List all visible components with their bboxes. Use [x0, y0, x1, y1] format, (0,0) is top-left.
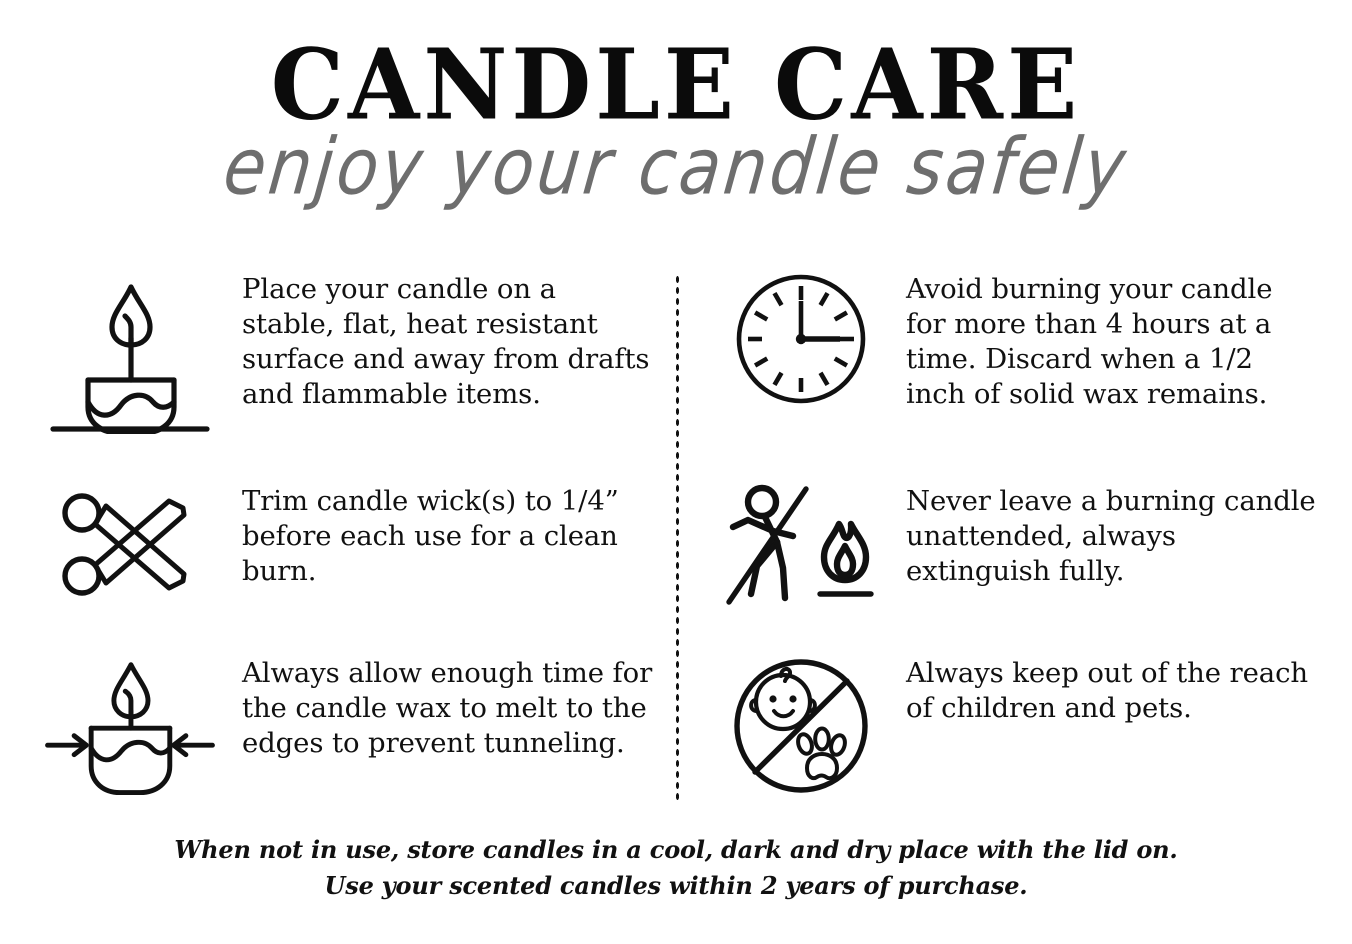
- header: CANDLE CARE enjoy your candle safely: [0, 0, 1352, 202]
- person-fleeing-fire-icon: [716, 484, 886, 609]
- tip-item: Trim candle wick(s) to 1/4” before each …: [40, 484, 654, 656]
- tip-item: Never leave a burning candle unattended,…: [716, 484, 1322, 656]
- tip-text: Avoid burning your candle for more than …: [886, 272, 1316, 412]
- tip-text: Trim candle wick(s) to 1/4” before each …: [220, 484, 654, 589]
- tips-column-left: Place your candle on a stable, flat, hea…: [0, 272, 676, 804]
- candle-full-melt-pool-icon: [40, 656, 220, 806]
- page-title: CANDLE CARE: [0, 36, 1352, 134]
- scissors-icon: [40, 484, 220, 604]
- tip-item: Always allow enough time for the candle …: [40, 656, 654, 804]
- footer-line-2: Use your scented candles within 2 years …: [0, 868, 1352, 904]
- footer-note: When not in use, store candles in a cool…: [0, 832, 1352, 904]
- clock-icon: [716, 272, 886, 406]
- footer-line-1: When not in use, store candles in a cool…: [0, 832, 1352, 868]
- page-subtitle: enjoy your candle safely: [0, 129, 1352, 207]
- tip-text: Never leave a burning candle unattended,…: [886, 484, 1316, 589]
- tips-column-right: Avoid burning your candle for more than …: [676, 272, 1352, 804]
- tip-item: Always keep out of the reach of children…: [716, 656, 1322, 804]
- tip-item: Avoid burning your candle for more than …: [716, 272, 1322, 484]
- tip-text: Always allow enough time for the candle …: [220, 656, 654, 761]
- tip-item: Place your candle on a stable, flat, hea…: [40, 272, 654, 484]
- candle-on-surface-icon: [40, 272, 220, 434]
- tip-text: Always keep out of the reach of children…: [886, 656, 1316, 726]
- tip-text: Place your candle on a stable, flat, hea…: [220, 272, 654, 412]
- tips-container: Place your candle on a stable, flat, hea…: [0, 272, 1352, 804]
- no-children-pets-icon: [716, 656, 886, 796]
